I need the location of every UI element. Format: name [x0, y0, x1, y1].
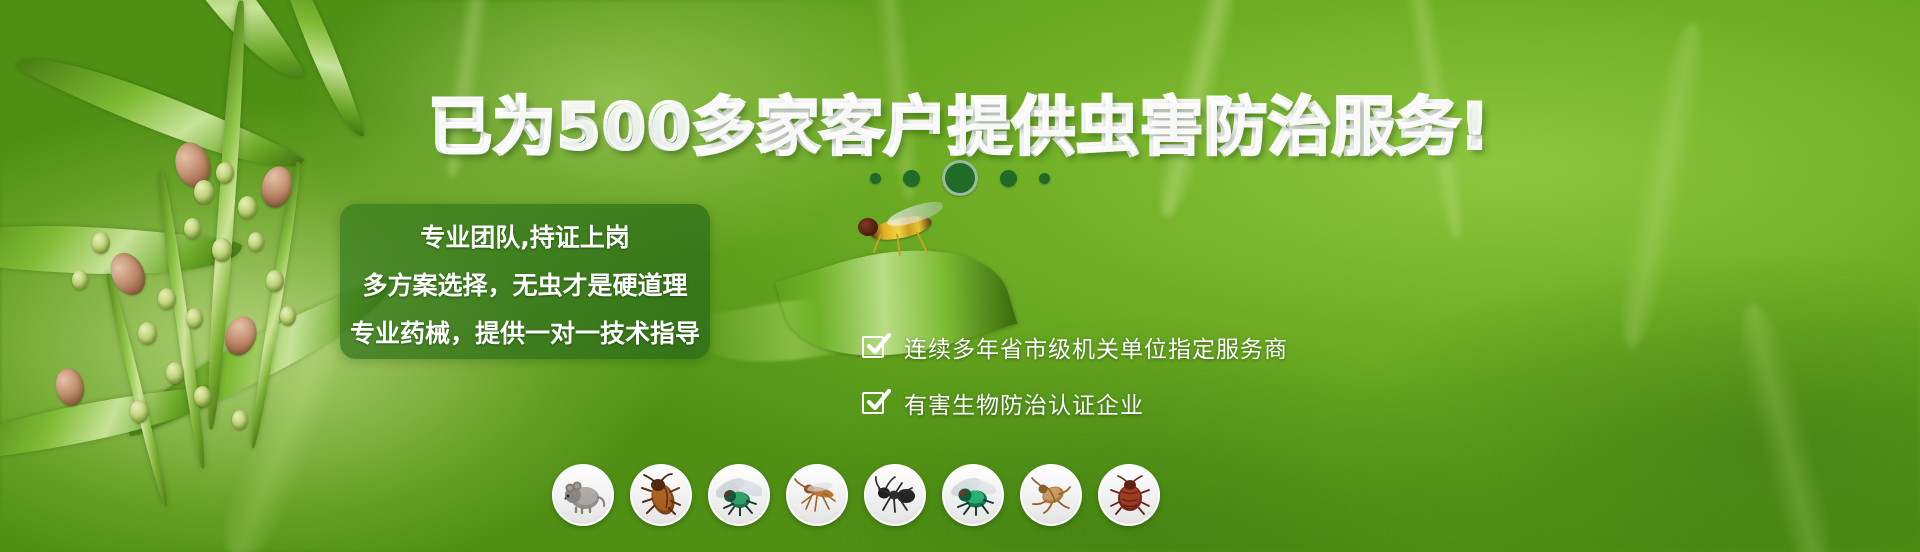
plant-bud [184, 218, 201, 239]
plant-bud [166, 362, 184, 384]
plant-bud [266, 270, 284, 292]
pest-icon-row [552, 464, 1160, 526]
plant-bud [92, 232, 110, 254]
plant-bud [232, 410, 248, 430]
credential-item: 有害生物防治认证企业 [862, 386, 1288, 420]
credential-text: 连续多年省市级机关单位指定服务商 [904, 330, 1288, 364]
checkbox-checked-icon [862, 389, 890, 417]
plant-bud [186, 308, 203, 329]
panel-line-1: 专业团队,持证上岗 [340, 218, 710, 254]
blowfly-icon[interactable] [942, 464, 1004, 526]
plant-seedhead [53, 366, 87, 408]
decorative-dot-medium [903, 170, 920, 187]
plant-bud [280, 306, 296, 326]
mosquito-icon[interactable] [786, 464, 848, 526]
plant-bud [158, 288, 176, 310]
credential-text: 有害生物防治认证企业 [904, 386, 1144, 420]
decorative-dot-row [0, 160, 1920, 196]
panel-line-2: 多方案选择，无虫才是硬道理 [340, 266, 710, 302]
selling-points-panel: 专业团队,持证上岗 多方案选择，无虫才是硬道理 专业药械，提供一对一技术指导 [340, 204, 710, 359]
banner-headline: 已为500多家客户提供虫害防治服务! [0, 76, 1920, 166]
credentials-list: 连续多年省市级机关单位指定服务商 有害生物防治认证企业 [862, 330, 1288, 420]
decorative-dot-small [1039, 173, 1050, 184]
housefly-icon[interactable] [708, 464, 770, 526]
pest-control-hero-banner: 已为500多家客户提供虫害防治服务! 专业团队,持证上岗 多方案选择，无虫才是硬… [0, 0, 1920, 552]
checkbox-checked-icon [862, 333, 890, 361]
plant-bud [212, 238, 232, 262]
credential-item: 连续多年省市级机关单位指定服务商 [862, 330, 1288, 364]
banner-headline-text: 已为500多家客户提供虫害防治服务! [429, 90, 1491, 163]
hoverfly-photo [846, 200, 958, 256]
plant-bud [130, 400, 149, 423]
decorative-dot-small [870, 173, 881, 184]
cockroach-icon[interactable] [630, 464, 692, 526]
hoverfly-head [858, 218, 878, 236]
panel-line-3: 专业药械，提供一对一技术指导 [340, 314, 710, 350]
plant-bud [238, 196, 257, 219]
plant-bud [72, 270, 88, 290]
ant-icon[interactable] [864, 464, 926, 526]
plant-bud [194, 386, 211, 407]
mouse-icon[interactable] [552, 464, 614, 526]
plant-bud [248, 232, 264, 252]
decorative-dot-medium [1000, 170, 1017, 187]
plant-bud [138, 322, 157, 345]
flea-icon[interactable] [1020, 464, 1082, 526]
bedbug-icon[interactable] [1098, 464, 1160, 526]
hoverfly-leg [916, 232, 928, 254]
decorative-dot-large [942, 160, 978, 196]
